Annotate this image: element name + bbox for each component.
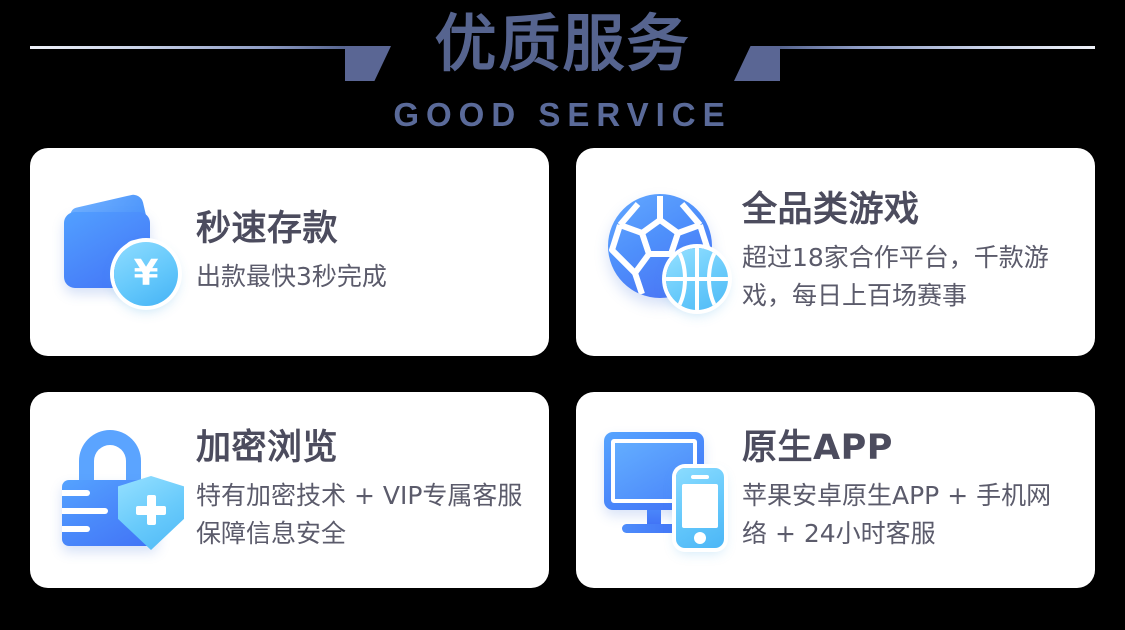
wallet-icon: ¥ [56, 186, 188, 318]
lock-stripe [62, 526, 90, 532]
card-subtitle: 超过18家合作平台，千款游戏，每日上百场赛事 [742, 239, 1075, 315]
ball-group [604, 190, 734, 314]
feature-card-all-games[interactable]: 全品类游戏 超过18家合作平台，千款游戏，每日上百场赛事 [576, 148, 1095, 356]
device-group [604, 432, 732, 548]
card-text-block: 全品类游戏 超过18家合作平台，千款游戏，每日上百场赛事 [734, 189, 1075, 315]
devices-icon [602, 424, 734, 556]
phone-speaker [691, 475, 709, 479]
card-text-block: 秒速存款 出款最快3秒完成 [188, 208, 387, 296]
page-header: 优质服务 GOOD SERVICE [0, 0, 1125, 145]
card-subtitle: 特有加密技术 + VIP专属客服保障信息安全 [196, 477, 529, 553]
basketball-icon [666, 248, 728, 310]
feature-card-native-app[interactable]: 原生APP 苹果安卓原生APP + 手机网络 + 24小时客服 [576, 392, 1095, 588]
card-text-block: 加密浏览 特有加密技术 + VIP专属客服保障信息安全 [188, 427, 529, 553]
lock-stripe [62, 490, 90, 496]
phone-home-button [694, 532, 706, 544]
page-title: 优质服务 [0, 8, 1125, 79]
plus-glyph [136, 495, 166, 525]
feature-card-grid: ¥ 秒速存款 出款最快3秒完成 [30, 148, 1095, 588]
card-subtitle: 苹果安卓原生APP + 手机网络 + 24小时客服 [742, 477, 1075, 553]
yuan-coin-icon: ¥ [114, 242, 178, 306]
yuan-symbol: ¥ [133, 256, 158, 292]
page-subtitle: GOOD SERVICE [0, 96, 1125, 134]
card-title: 加密浏览 [196, 427, 529, 471]
card-title: 秒速存款 [196, 208, 387, 252]
smartphone-icon [676, 468, 724, 548]
sports-ball-icon [602, 186, 734, 318]
card-subtitle: 出款最快3秒完成 [196, 258, 387, 296]
lock-icon [56, 424, 188, 556]
lock-stripe [62, 508, 108, 514]
phone-screen [682, 484, 718, 528]
card-title: 全品类游戏 [742, 189, 1075, 233]
feature-card-encrypted-browsing[interactable]: 加密浏览 特有加密技术 + VIP专属客服保障信息安全 [30, 392, 549, 588]
feature-card-instant-deposit[interactable]: ¥ 秒速存款 出款最快3秒完成 [30, 148, 549, 356]
card-text-block: 原生APP 苹果安卓原生APP + 手机网络 + 24小时客服 [734, 427, 1075, 553]
card-title: 原生APP [742, 427, 1075, 471]
lock-group [60, 428, 186, 552]
